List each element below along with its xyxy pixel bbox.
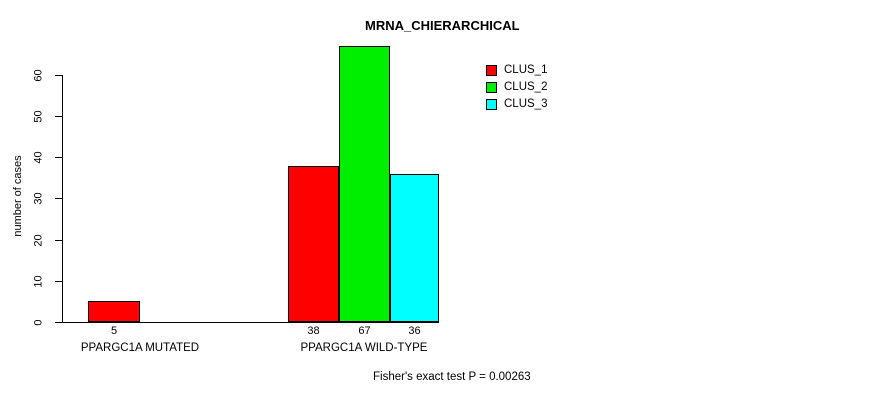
y-tick-label-20: 20 — [28, 235, 50, 246]
group-label-mutated: PPARGC1A MUTATED — [40, 342, 240, 354]
y-tick-label-40: 40 — [28, 152, 50, 163]
y-tick-40 — [55, 157, 62, 158]
legend-label-clus3: CLUS_3 — [504, 98, 547, 110]
y-tick-label-0: 0 — [28, 317, 50, 328]
y-tick-label-30: 30 — [28, 193, 50, 204]
y-axis-label: number of cases — [12, 141, 24, 251]
bar-value-label-1: 38 — [288, 325, 339, 337]
fisher-test-annotation: Fisher's exact test P = 0.00263 — [373, 371, 531, 383]
bar-value-label-3: 36 — [390, 325, 439, 337]
legend-item-clus3: CLUS_3 — [486, 96, 547, 112]
y-tick-50 — [55, 116, 62, 117]
y-tick-label-60: 60 — [28, 70, 50, 81]
bar-wildtype-clus3 — [390, 174, 439, 322]
y-tick-10 — [55, 281, 62, 282]
legend-swatch-clus1 — [486, 65, 497, 76]
legend-item-clus1: CLUS_1 — [486, 62, 547, 78]
y-tick-label-10: 10 — [28, 276, 50, 287]
legend-label-clus2: CLUS_2 — [504, 81, 547, 93]
group-label-wildtype: PPARGC1A WILD-TYPE — [264, 342, 464, 354]
bar-mutated-clus1 — [88, 301, 140, 322]
bar-value-label-2: 67 — [339, 325, 390, 337]
x-axis-line — [62, 322, 439, 323]
legend-swatch-clus2 — [486, 82, 497, 93]
bar-value-label-0: 5 — [88, 325, 140, 337]
y-tick-30 — [55, 198, 62, 199]
legend-label-clus1: CLUS_1 — [504, 64, 547, 76]
legend-swatch-clus3 — [486, 99, 497, 110]
bar-wildtype-clus2 — [339, 46, 390, 322]
y-tick-20 — [55, 240, 62, 241]
y-tick-label-50: 50 — [28, 111, 50, 122]
legend: CLUS_1 CLUS_2 CLUS_3 — [486, 62, 547, 113]
chart-title: MRNA_CHIERARCHICAL — [365, 18, 520, 33]
y-tick-60 — [55, 75, 62, 76]
bar-chart-plot: MRNA_CHIERARCHICAL number of cases 0 10 … — [0, 0, 890, 400]
y-tick-0 — [55, 322, 62, 323]
y-axis-line — [62, 75, 63, 323]
legend-item-clus2: CLUS_2 — [486, 79, 547, 95]
bar-wildtype-clus1 — [288, 166, 339, 322]
